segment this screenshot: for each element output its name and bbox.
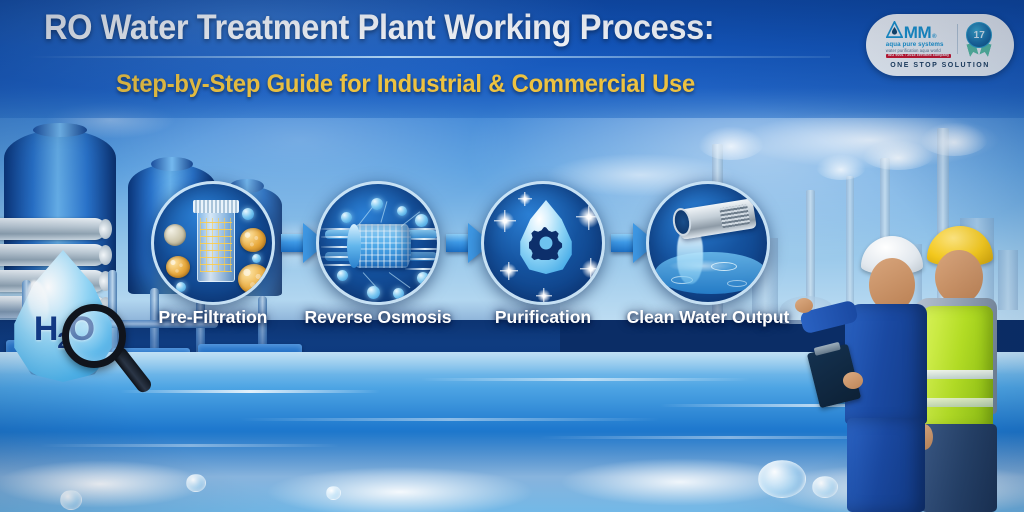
logo-iso-line: ISO 9001 : 2015 certified company — [886, 54, 951, 59]
process-step-label: Reverse Osmosis — [305, 307, 452, 328]
company-logo[interactable]: MM® aqua pure systems water purification… — [866, 14, 1014, 76]
logo-divider — [957, 24, 958, 54]
process-step-label: Purification — [495, 307, 591, 328]
title-divider — [30, 56, 830, 58]
logo-line2: water purification aqua world — [886, 49, 941, 53]
process-step-purification[interactable]: Purification — [481, 181, 605, 305]
logo-wordmark: MM® aqua pure systems water purification… — [886, 21, 951, 58]
pipe-outflow-icon — [646, 181, 770, 305]
process-step-label: Clean Water Output — [627, 307, 790, 328]
process-step-reverse-osmosis[interactable]: Reverse Osmosis — [316, 181, 440, 305]
page-title: RO Water Treatment Plant Working Process… — [44, 8, 714, 48]
process-step-label: Pre-Filtration — [159, 307, 268, 328]
process-step-pre-filtration[interactable]: Pre-Filtration — [151, 181, 275, 305]
droplet-gear-icon — [481, 181, 605, 305]
ro-membrane-icon — [316, 181, 440, 305]
logo-tagline: ONE STOP SOLUTION — [890, 62, 990, 69]
filter-cartridge-icon — [151, 181, 275, 305]
process-step-clean-water-output[interactable]: Clean Water Output — [646, 181, 770, 305]
droplet-a-icon — [886, 21, 903, 38]
infographic-canvas: H2O — [0, 0, 1024, 512]
page-subtitle: Step-by-Step Guide for Industrial & Comm… — [116, 70, 695, 99]
certified-seal-icon: 17 — [964, 22, 994, 56]
logo-brand: MM® — [886, 21, 936, 41]
gear-icon — [529, 226, 563, 260]
registered-mark: ® — [932, 34, 936, 40]
